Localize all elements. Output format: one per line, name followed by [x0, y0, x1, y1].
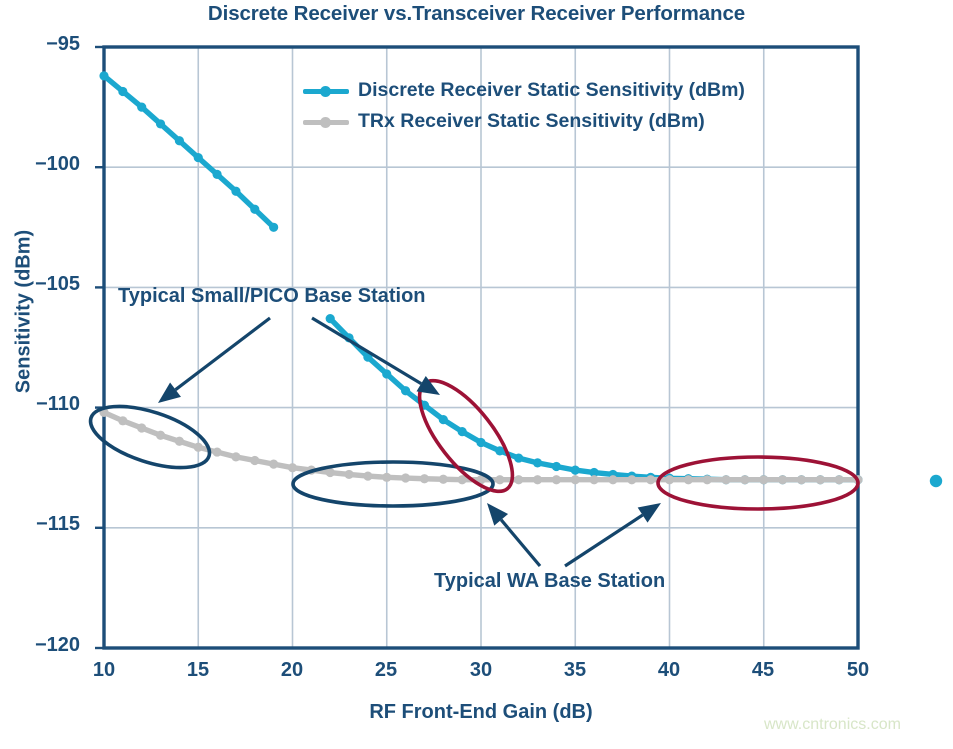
legend-item-trx-receiver[interactable]: TRx Receiver Static Sensitivity (dBm): [303, 110, 705, 133]
axis-frame: [95, 47, 858, 648]
legend-swatch-trx-icon: [303, 115, 349, 129]
legend-label-trx: TRx Receiver Static Sensitivity (dBm): [358, 110, 705, 133]
legend-swatch-discrete-icon: [303, 84, 349, 98]
watermark-text: www.cntronics.com: [764, 716, 901, 734]
chart-figure: Discrete Receiver vs.Transceiver Receive…: [0, 0, 953, 749]
grid-lines: [104, 47, 858, 648]
annotation-arrows: [158, 318, 661, 566]
stray-data-marker: [930, 475, 942, 487]
legend-label-discrete: Discrete Receiver Static Sensitivity (dB…: [358, 79, 745, 102]
annotation-wa-base-station: Typical WA Base Station: [434, 570, 665, 593]
annotation-small-pico-base-station: Typical Small/PICO Base Station: [118, 285, 426, 308]
legend-item-discrete-receiver[interactable]: Discrete Receiver Static Sensitivity (dB…: [303, 79, 745, 102]
